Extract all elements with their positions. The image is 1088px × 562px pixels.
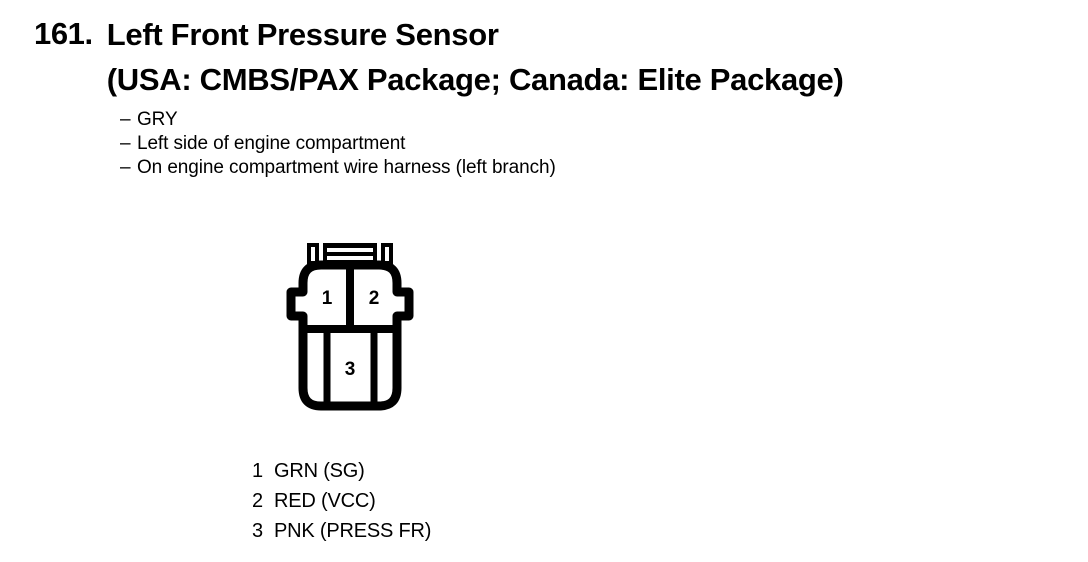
heading-title-group: Left Front Pressure Sensor (USA: CMBS/PA… xyxy=(107,12,844,102)
legend-pin-description: RED (VCC) xyxy=(274,486,376,516)
dash-icon: – xyxy=(120,108,137,132)
cavity-label-2: 2 xyxy=(369,288,380,309)
notes-list: – GRY – Left side of engine compartment … xyxy=(120,108,556,180)
note-item: – Left side of engine compartment xyxy=(120,132,556,156)
page-heading: 161. Left Front Pressure Sensor (USA: CM… xyxy=(34,12,844,102)
note-item: – GRY xyxy=(120,108,556,132)
page-subtitle: (USA: CMBS/PAX Package; Canada: Elite Pa… xyxy=(107,57,844,102)
cavity-label-1: 1 xyxy=(322,288,333,309)
connector-diagram: 1 2 3 xyxy=(270,236,470,412)
legend-pin-description: PNK (PRESS FR) xyxy=(274,516,431,546)
legend-row: 2 RED (VCC) xyxy=(252,486,431,516)
note-text: GRY xyxy=(137,108,178,132)
cavity-label-3: 3 xyxy=(345,359,356,380)
legend-pin-number: 1 xyxy=(252,456,274,486)
note-item: – On engine compartment wire harness (le… xyxy=(120,156,556,180)
pin-legend: 1 GRN (SG) 2 RED (VCC) 3 PNK (PRESS FR) xyxy=(252,456,431,546)
dash-icon: – xyxy=(120,156,137,180)
heading-item-number: 161. xyxy=(34,12,93,56)
legend-pin-number: 2 xyxy=(252,486,274,516)
legend-row: 1 GRN (SG) xyxy=(252,456,431,486)
legend-pin-description: GRN (SG) xyxy=(274,456,365,486)
legend-pin-number: 3 xyxy=(252,516,274,546)
note-text: Left side of engine compartment xyxy=(137,132,405,156)
legend-row: 3 PNK (PRESS FR) xyxy=(252,516,431,546)
dash-icon: – xyxy=(120,132,137,156)
page-title: Left Front Pressure Sensor xyxy=(107,12,844,57)
note-text: On engine compartment wire harness (left… xyxy=(137,156,556,180)
